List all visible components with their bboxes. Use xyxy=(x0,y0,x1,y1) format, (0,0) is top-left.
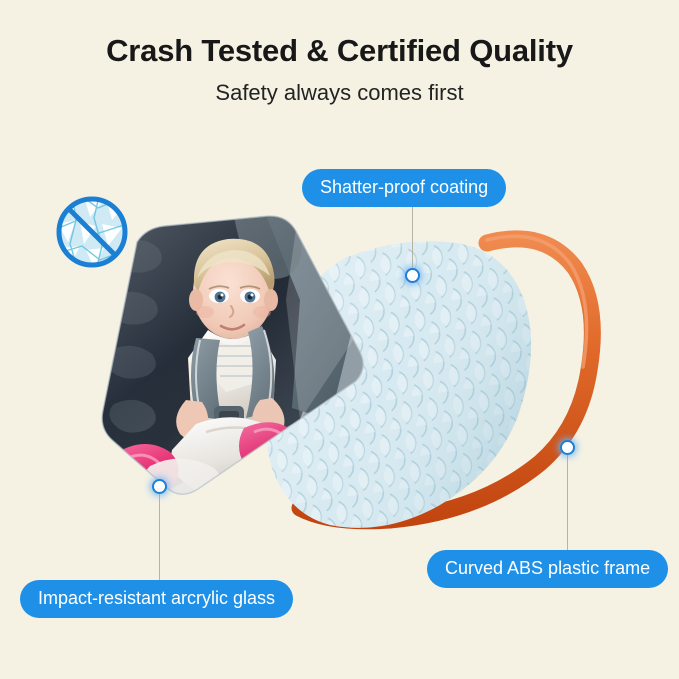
connector-dot-abs-frame xyxy=(560,440,575,455)
connector-dot-shatter-proof xyxy=(405,268,420,283)
product-infographic: Crash Tested & Certified Quality Safety … xyxy=(0,0,679,679)
abs-frame xyxy=(300,236,592,520)
callout-impact-resistant-acrylic-glass: Impact-resistant arcrylic glass xyxy=(20,580,293,618)
honeycomb-back-panel xyxy=(265,241,531,528)
callout-shatter-proof-coating: Shatter-proof coating xyxy=(302,169,506,207)
shatter-proof-badge-icon xyxy=(50,190,134,274)
leader-line-acrylic-glass xyxy=(159,486,160,581)
leader-line-shatter-proof xyxy=(412,200,413,272)
connector-dot-acrylic-glass xyxy=(152,479,167,494)
page-title: Crash Tested & Certified Quality xyxy=(0,33,679,69)
callout-curved-abs-plastic-frame: Curved ABS plastic frame xyxy=(427,550,668,588)
page-subtitle: Safety always comes first xyxy=(0,80,679,106)
leader-line-abs-frame xyxy=(567,447,568,551)
